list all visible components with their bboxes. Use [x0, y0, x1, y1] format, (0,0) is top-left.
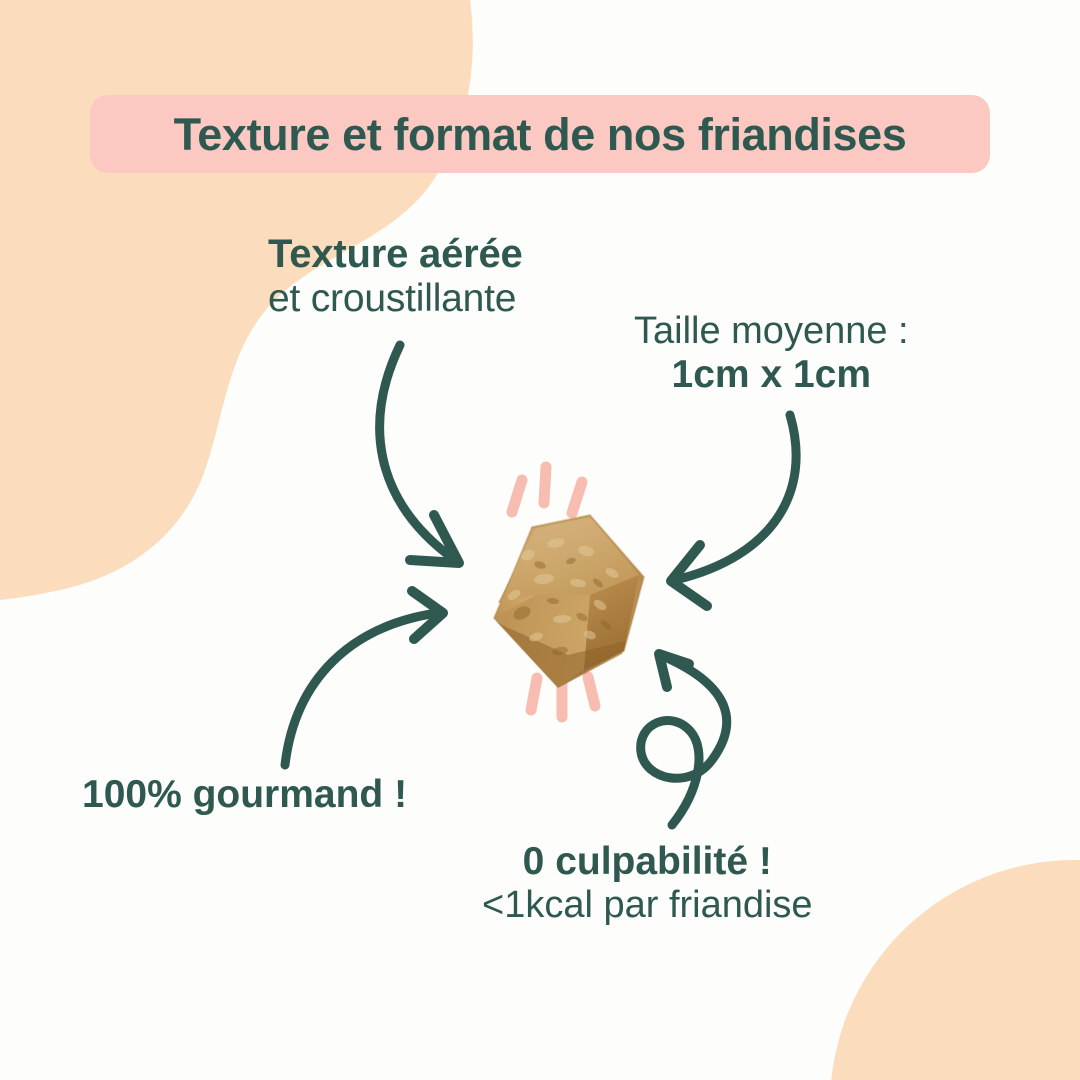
callout-culpabilite-line-1: 0 culpabilité ! — [482, 840, 813, 884]
callout-taille-moyenne: Taille moyenne : 1cm x 1cm — [634, 310, 909, 396]
treat-body — [494, 515, 644, 688]
callout-culpabilite-line-2: <1kcal par friandise — [482, 884, 813, 927]
poster-canvas: Texture et format de nos friandises — [0, 0, 1080, 1080]
callout-taille-line-2: 1cm x 1cm — [634, 353, 909, 397]
callout-texture-aeree: Texture aérée et croustillante — [268, 232, 523, 320]
callout-texture-line-1: Texture aérée — [268, 232, 523, 277]
callout-100-gourmand: 100% gourmand ! — [82, 773, 407, 817]
callout-0-culpabilite: 0 culpabilité ! <1kcal par friandise — [482, 840, 813, 926]
callout-gourmand-line-1: 100% gourmand ! — [82, 773, 407, 817]
bottom-right-blob-shape — [830, 860, 1080, 1080]
sparkles-top-icon — [512, 467, 582, 513]
callout-texture-line-2: et croustillante — [268, 277, 523, 321]
callout-taille-line-1: Taille moyenne : — [634, 310, 909, 353]
title-banner: Texture et format de nos friandises — [90, 95, 990, 173]
treat-illustration — [440, 455, 690, 735]
page-title: Texture et format de nos friandises — [174, 112, 907, 157]
